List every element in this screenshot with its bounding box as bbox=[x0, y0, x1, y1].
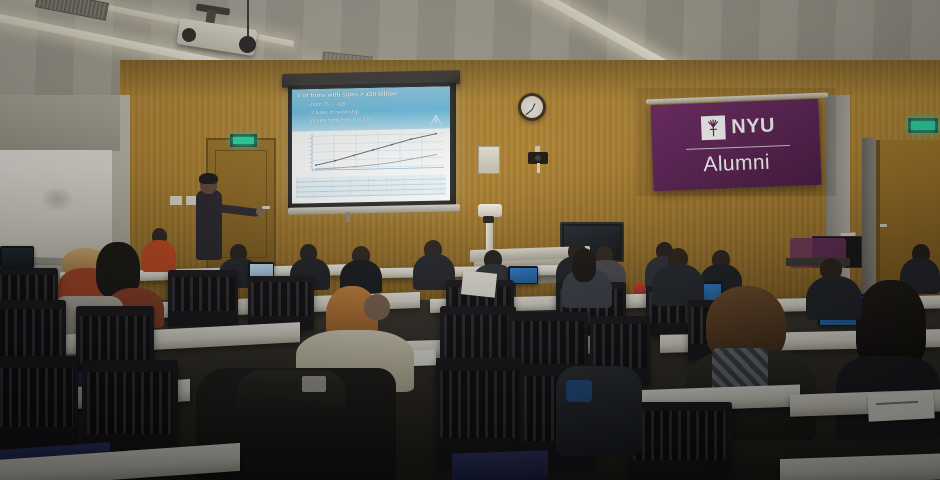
student-hair bbox=[572, 248, 596, 282]
banner-subtitle: Alumni bbox=[652, 149, 821, 179]
banner-divider bbox=[686, 145, 790, 150]
laptop bbox=[0, 246, 34, 268]
presenter bbox=[196, 190, 222, 260]
jacket-label bbox=[302, 376, 326, 392]
exit-sign-right bbox=[908, 118, 938, 133]
slide-logo-icon bbox=[428, 112, 444, 125]
chair-back[interactable] bbox=[628, 402, 732, 480]
presenter-hair bbox=[199, 173, 218, 184]
exit-sign-left bbox=[230, 134, 257, 147]
nyu-alumni-banner: NYU Alumni bbox=[650, 99, 821, 191]
left-wall-upper-panel bbox=[0, 95, 120, 151]
document-camera-lens-icon bbox=[483, 216, 494, 223]
clock-minute-hand bbox=[525, 109, 533, 116]
slide-bullet: - private firms from 5 to 170 bbox=[308, 117, 371, 125]
door-handle[interactable] bbox=[880, 224, 887, 227]
slide-chart-svg bbox=[296, 129, 446, 177]
exit-sign-glow bbox=[911, 121, 935, 130]
hanging-speaker-rod bbox=[247, 0, 249, 38]
nyu-torch-icon bbox=[705, 119, 722, 138]
door-jamb bbox=[862, 138, 876, 300]
whiteboard-smudge bbox=[40, 186, 74, 212]
slide-chart bbox=[296, 129, 446, 177]
camera-stem bbox=[537, 163, 540, 173]
camera-lens-icon bbox=[535, 155, 541, 161]
chair-back[interactable] bbox=[248, 276, 314, 330]
nyu-wordmark: NYU bbox=[731, 113, 776, 139]
clock-face bbox=[521, 96, 543, 118]
chair-back[interactable] bbox=[168, 270, 238, 326]
exit-sign-glow bbox=[233, 137, 254, 144]
lecture-hall-photo: # of firms with sales > ¥30 billion - fr… bbox=[0, 0, 940, 480]
hanging-speaker-icon bbox=[239, 36, 256, 53]
light-switch[interactable] bbox=[170, 196, 182, 205]
wall-clock bbox=[518, 93, 546, 121]
student-body bbox=[142, 240, 176, 272]
student-body bbox=[806, 276, 862, 320]
slide-header-band: # of firms with sales > ¥30 billion - fr… bbox=[292, 86, 450, 131]
slide-bullet: - from 75 → 429 bbox=[308, 102, 345, 110]
student-head bbox=[364, 294, 390, 320]
notebook bbox=[867, 390, 934, 421]
seat-cushion bbox=[452, 450, 548, 480]
screen-pull-knob[interactable] bbox=[346, 212, 350, 222]
slide-bullet: - 3 types of ownership bbox=[308, 109, 359, 117]
presentation-slide: # of firms with sales > ¥30 billion - fr… bbox=[292, 86, 450, 203]
chair-back[interactable] bbox=[436, 358, 522, 466]
backpack-patch bbox=[566, 380, 592, 402]
chair-back[interactable] bbox=[0, 356, 78, 452]
jacket-shoulder bbox=[236, 370, 346, 416]
projection-screen: # of firms with sales > ¥30 billion - fr… bbox=[292, 86, 450, 203]
paper-sheet bbox=[461, 270, 497, 297]
wall-control-panel[interactable] bbox=[478, 146, 500, 174]
slide-data-table bbox=[296, 174, 446, 200]
slide-title: # of firms with sales > ¥30 billion bbox=[297, 89, 447, 100]
